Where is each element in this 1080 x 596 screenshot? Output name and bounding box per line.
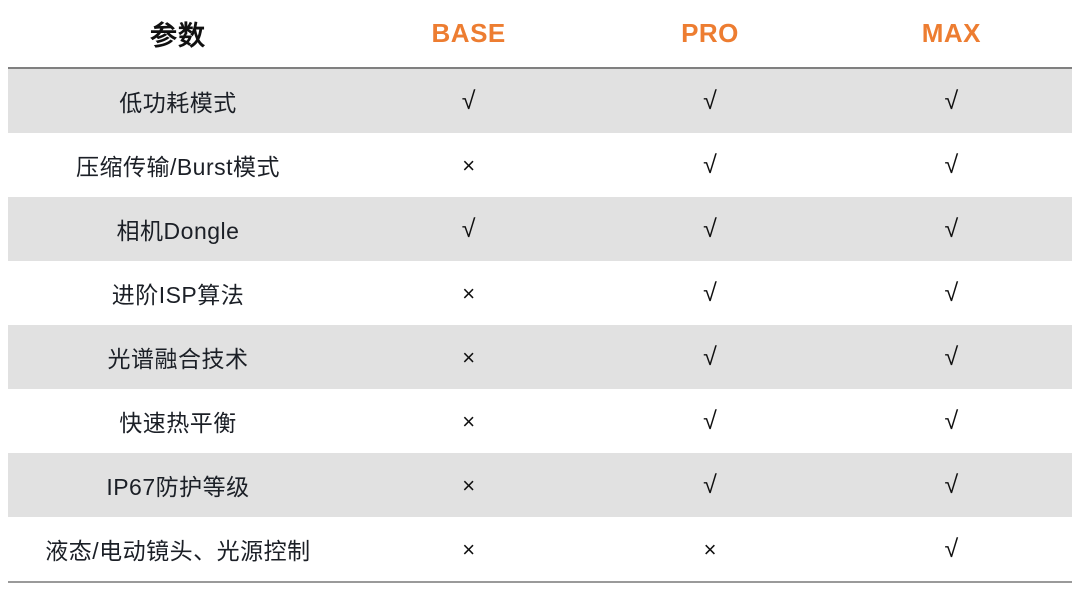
column-header-base: BASE <box>348 0 589 68</box>
cross-mark-icon: × <box>462 347 475 369</box>
support-cell-max: √ <box>831 517 1072 582</box>
feature-name-cell: 低功耗模式 <box>8 68 348 133</box>
check-mark-icon: √ <box>703 409 717 434</box>
support-cell-base: √ <box>348 68 589 133</box>
product-tier-feature-comparison-table: 参数 BASE PRO MAX 低功耗模式√√√压缩传输/Burst模式×√√相… <box>8 0 1072 583</box>
table-row: 相机Dongle√√√ <box>8 197 1072 261</box>
support-cell-base: × <box>348 389 589 453</box>
cross-mark-icon: × <box>462 283 475 305</box>
check-mark-icon: √ <box>944 473 958 498</box>
support-cell-max: √ <box>831 453 1072 517</box>
support-cell-max: √ <box>831 389 1072 453</box>
check-mark-icon: √ <box>703 473 717 498</box>
table-body: 低功耗模式√√√压缩传输/Burst模式×√√相机Dongle√√√进阶ISP算… <box>8 68 1072 582</box>
support-cell-pro: √ <box>589 68 830 133</box>
support-cell-base: × <box>348 325 589 389</box>
check-mark-icon: √ <box>944 409 958 434</box>
support-cell-pro: √ <box>589 389 830 453</box>
support-cell-base: × <box>348 261 589 325</box>
support-cell-base: × <box>348 517 589 582</box>
feature-name-cell: 光谱融合技术 <box>8 325 348 389</box>
support-cell-pro: √ <box>589 453 830 517</box>
cross-mark-icon: × <box>462 475 475 497</box>
check-mark-icon: √ <box>703 153 717 178</box>
table-row: IP67防护等级×√√ <box>8 453 1072 517</box>
support-cell-base: × <box>348 133 589 197</box>
check-mark-icon: √ <box>462 217 476 242</box>
support-cell-max: √ <box>831 325 1072 389</box>
check-mark-icon: √ <box>703 89 717 114</box>
support-cell-pro: √ <box>589 133 830 197</box>
feature-name-cell: 液态/电动镜头、光源控制 <box>8 517 348 582</box>
feature-name-cell: 压缩传输/Burst模式 <box>8 133 348 197</box>
check-mark-icon: √ <box>462 89 476 114</box>
table-header-row: 参数 BASE PRO MAX <box>8 0 1072 68</box>
support-cell-max: √ <box>831 261 1072 325</box>
table-row: 液态/电动镜头、光源控制××√ <box>8 517 1072 582</box>
check-mark-icon: √ <box>944 217 958 242</box>
column-header-max: MAX <box>831 0 1072 68</box>
cross-mark-icon: × <box>704 539 717 561</box>
support-cell-max: √ <box>831 197 1072 261</box>
support-cell-pro: × <box>589 517 830 582</box>
table-row: 快速热平衡×√√ <box>8 389 1072 453</box>
support-cell-base: × <box>348 453 589 517</box>
comparison-table-container: 参数 BASE PRO MAX 低功耗模式√√√压缩传输/Burst模式×√√相… <box>0 0 1080 596</box>
feature-name-cell: IP67防护等级 <box>8 453 348 517</box>
table-header: 参数 BASE PRO MAX <box>8 0 1072 68</box>
check-mark-icon: √ <box>944 537 958 562</box>
check-mark-icon: √ <box>703 345 717 370</box>
feature-name-cell: 相机Dongle <box>8 197 348 261</box>
column-header-pro: PRO <box>589 0 830 68</box>
support-cell-pro: √ <box>589 325 830 389</box>
check-mark-icon: √ <box>944 89 958 114</box>
table-row: 进阶ISP算法×√√ <box>8 261 1072 325</box>
table-row: 压缩传输/Burst模式×√√ <box>8 133 1072 197</box>
check-mark-icon: √ <box>944 281 958 306</box>
support-cell-max: √ <box>831 68 1072 133</box>
feature-name-cell: 快速热平衡 <box>8 389 348 453</box>
table-row: 低功耗模式√√√ <box>8 68 1072 133</box>
check-mark-icon: √ <box>944 345 958 370</box>
cross-mark-icon: × <box>462 155 475 177</box>
cross-mark-icon: × <box>462 411 475 433</box>
table-row: 光谱融合技术×√√ <box>8 325 1072 389</box>
feature-name-cell: 进阶ISP算法 <box>8 261 348 325</box>
check-mark-icon: √ <box>703 217 717 242</box>
check-mark-icon: √ <box>944 153 958 178</box>
cross-mark-icon: × <box>462 539 475 561</box>
support-cell-pro: √ <box>589 197 830 261</box>
check-mark-icon: √ <box>703 281 717 306</box>
column-header-param: 参数 <box>8 0 348 68</box>
support-cell-pro: √ <box>589 261 830 325</box>
support-cell-base: √ <box>348 197 589 261</box>
support-cell-max: √ <box>831 133 1072 197</box>
